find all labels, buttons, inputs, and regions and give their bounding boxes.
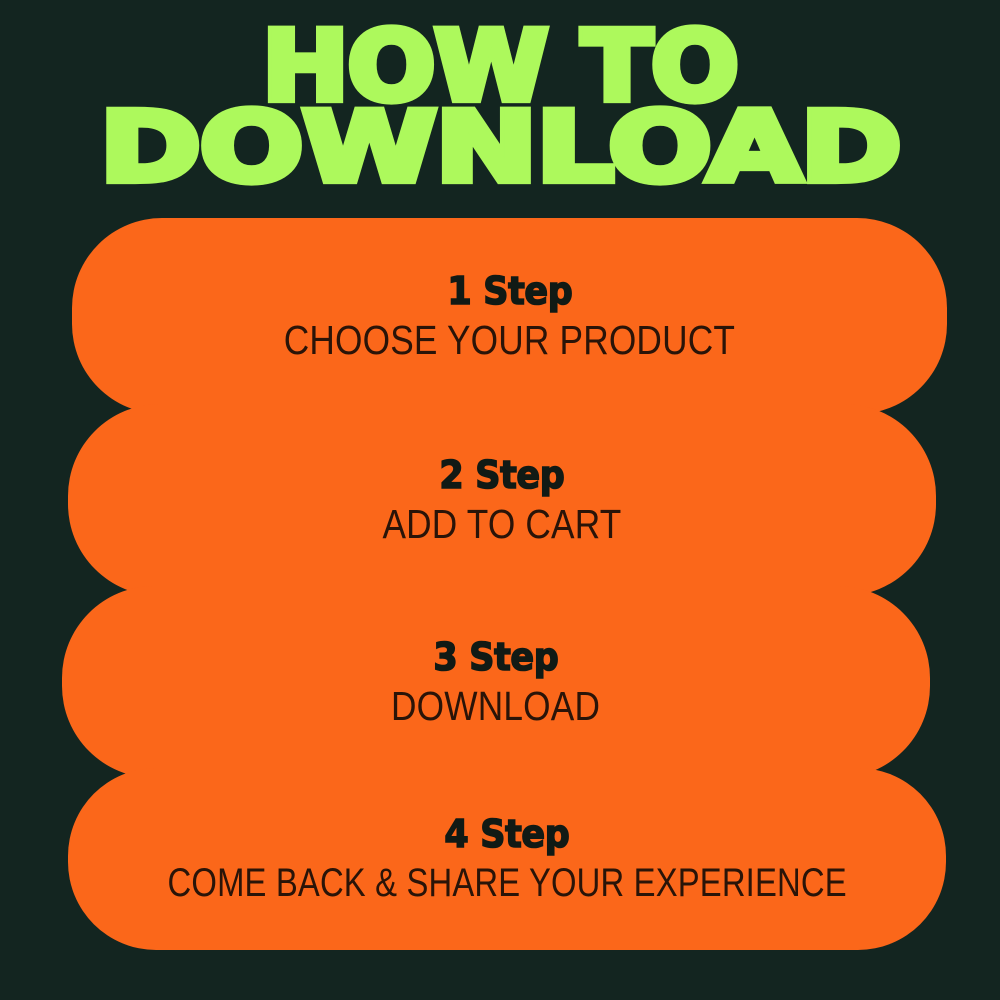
- page-title: HOW TO DOWNLOAD: [0, 30, 1000, 186]
- step-1-description: CHOOSE YOUR PRODUCT: [284, 320, 735, 361]
- step-card-1[interactable]: 1 Step CHOOSE YOUR PRODUCT: [72, 218, 947, 414]
- step-3-description: DOWNLOAD: [391, 686, 600, 727]
- step-card-3[interactable]: 3 Step DOWNLOAD: [62, 586, 930, 778]
- step-4-description: COME BACK & SHARE YOUR EXPERIENCE: [167, 863, 846, 903]
- step-card-4[interactable]: 4 Step COME BACK & SHARE YOUR EXPERIENCE: [68, 768, 946, 950]
- step-card-2[interactable]: 2 Step ADD TO CART: [68, 404, 936, 596]
- step-3-number-label: 3 Step: [433, 638, 558, 676]
- steps-list: 1 Step CHOOSE YOUR PRODUCT 2 Step ADD TO…: [0, 218, 1000, 958]
- page-title-line-2: DOWNLOAD: [0, 110, 1000, 187]
- poster-canvas: HOW TO DOWNLOAD 1 Step CHOOSE YOUR PRODU…: [0, 0, 1000, 1000]
- step-4-number-label: 4 Step: [444, 815, 569, 853]
- step-2-description: ADD TO CART: [382, 504, 621, 545]
- step-2-number-label: 2 Step: [439, 456, 564, 494]
- step-1-number-label: 1 Step: [447, 272, 572, 310]
